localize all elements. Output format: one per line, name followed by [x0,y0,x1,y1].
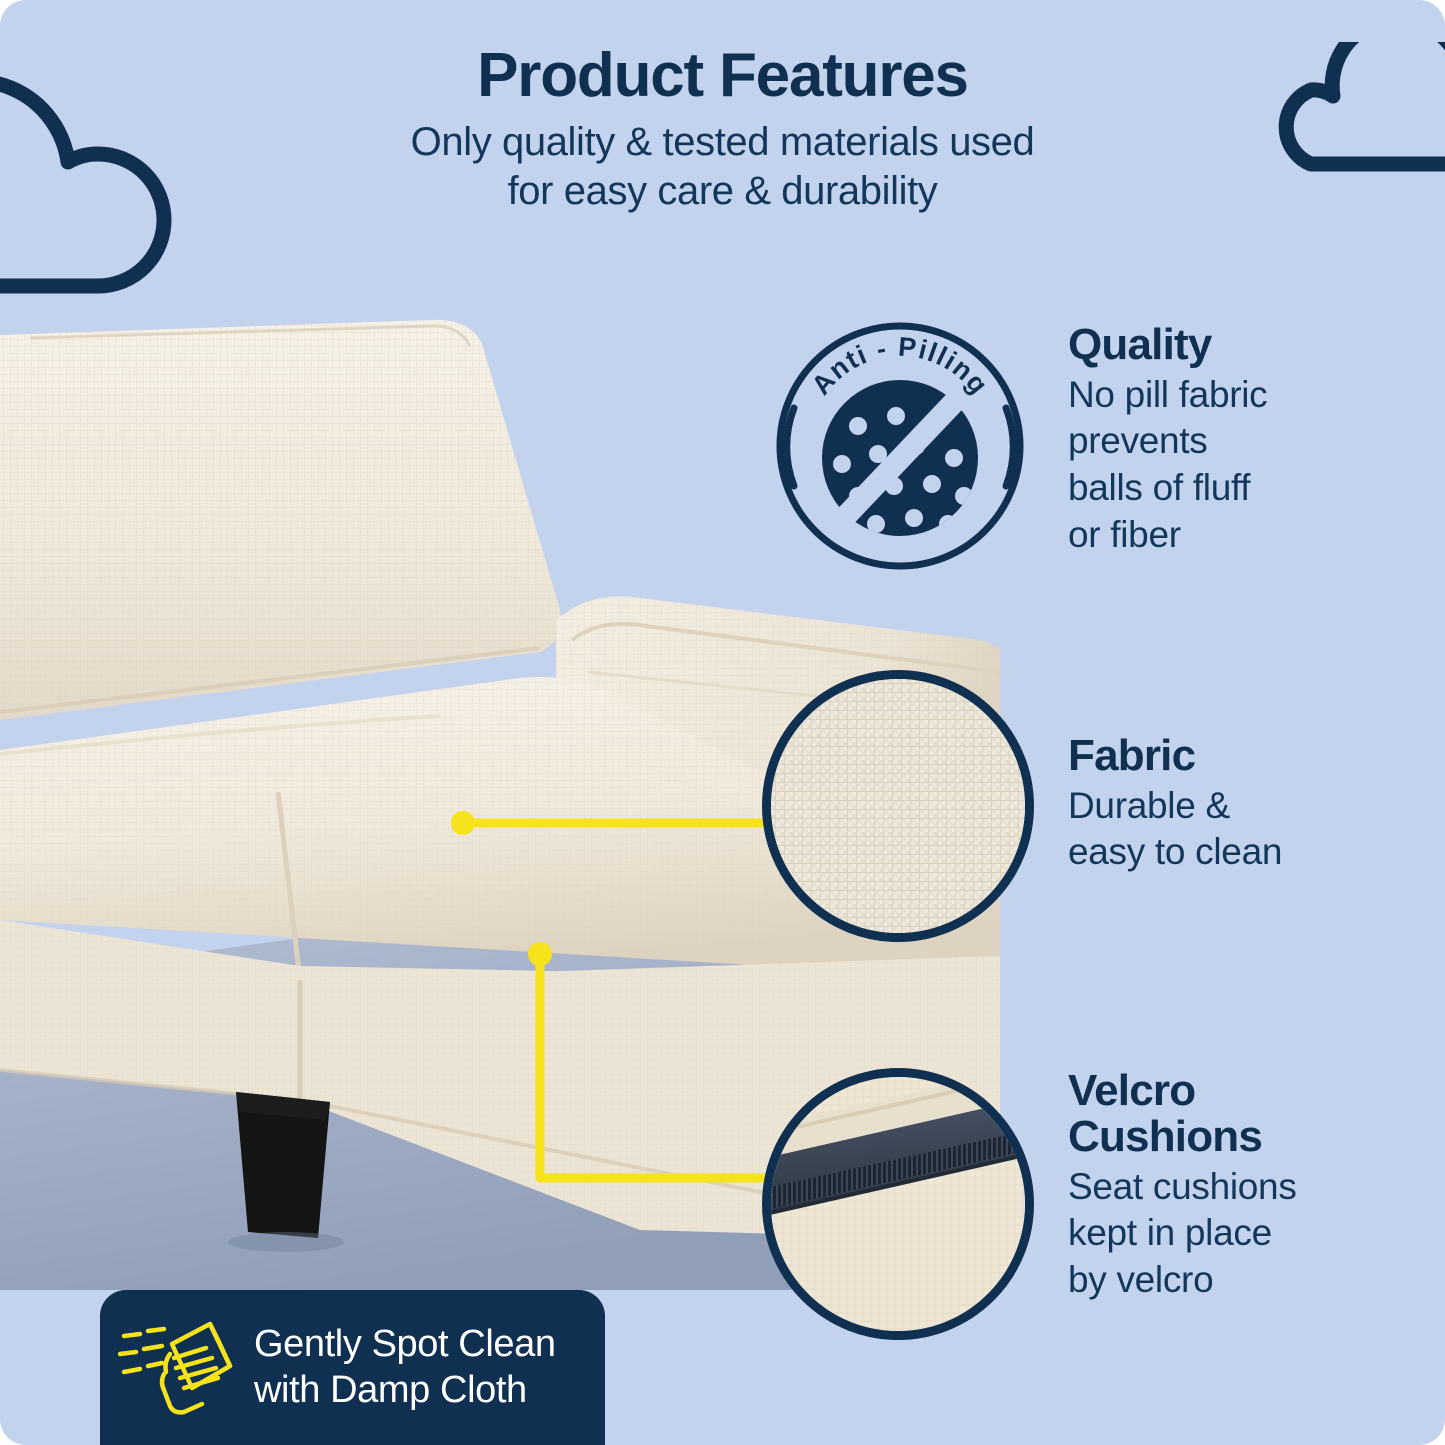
quality-line-3: balls of fluff [1068,467,1250,508]
hand-wiping-cloth-icon [118,1314,248,1422]
velcro-closeup-circle-icon [762,1068,1034,1340]
velcro-title-line-2: Cushions [1068,1112,1262,1161]
anti-pilling-badge-icon: Anti - Pilling [772,318,1028,574]
velcro-title-line-1: Velcro [1068,1066,1195,1115]
feature-block-quality: Quality No pill fabric prevents balls of… [1068,322,1398,558]
feature-block-fabric: Fabric Durable & easy to clean [1068,733,1398,876]
care-instruction-badge: Gently Spot Clean with Damp Cloth [100,1290,605,1445]
feature-block-velcro: Velcro Cushions Seat cushions kept in pl… [1068,1068,1398,1303]
fabric-line-2: easy to clean [1068,831,1282,872]
velcro-line-2: kept in place [1068,1212,1272,1253]
quality-line-2: prevents [1068,420,1208,461]
feature-body-fabric: Durable & easy to clean [1068,783,1398,876]
feature-body-quality: No pill fabric prevents balls of fluff o… [1068,372,1398,558]
quality-line-1: No pill fabric [1068,374,1267,415]
feature-title-velcro: Velcro Cushions [1068,1068,1398,1160]
quality-line-4: or fiber [1068,514,1181,555]
fabric-line-1: Durable & [1068,785,1230,826]
feature-title-fabric: Fabric [1068,733,1398,779]
product-features-infographic: Product Features Only quality & tested m… [0,0,1445,1445]
feature-body-velcro: Seat cushions kept in place by velcro [1068,1164,1398,1304]
page-title: Product Features [0,44,1445,108]
velcro-line-3: by velcro [1068,1259,1213,1300]
header: Product Features Only quality & tested m… [0,44,1445,215]
care-line-2: with Damp Cloth [254,1368,556,1414]
care-line-1: Gently Spot Clean [254,1322,556,1368]
feature-title-quality: Quality [1068,322,1398,368]
subtitle-line-2: for easy care & durability [508,169,938,213]
page-subtitle: Only quality & tested materials used for… [0,118,1445,216]
velcro-line-1: Seat cushions [1068,1166,1297,1207]
subtitle-line-1: Only quality & tested materials used [411,120,1035,164]
fabric-closeup-circle-icon [762,670,1034,942]
care-instruction-text: Gently Spot Clean with Damp Cloth [254,1322,556,1413]
